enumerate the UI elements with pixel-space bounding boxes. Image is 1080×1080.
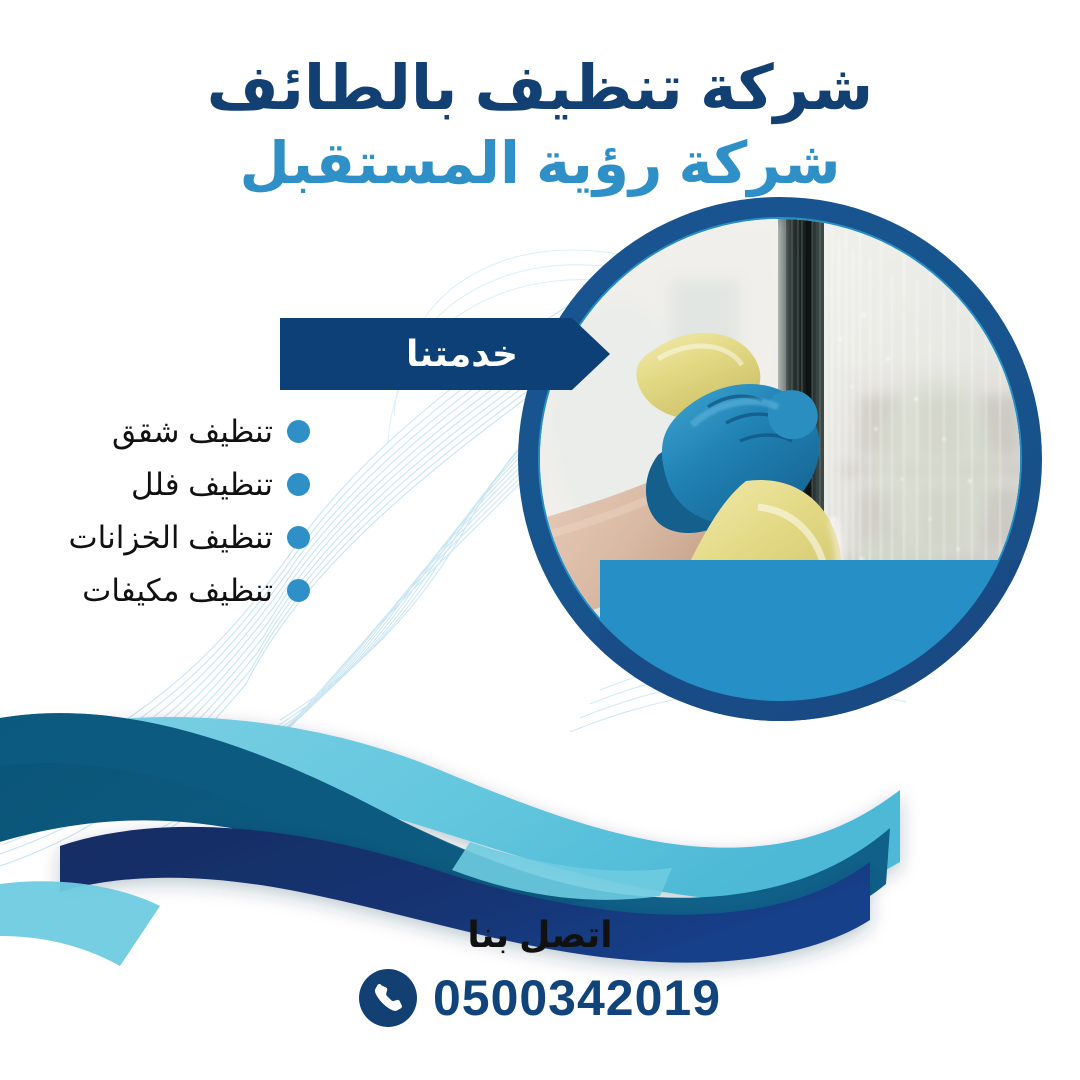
contact-block: اتصل بنا 0500342019 [0,915,1080,1027]
bullet-dot-icon [287,526,310,549]
photo-ring-outer [518,197,1042,721]
poster-canvas: شركة تنظيف بالطائف شركة رؤية المستقبل [0,0,1080,1080]
list-item[interactable]: تنظيف الخزانات [60,511,310,564]
hero-photo [540,219,1020,699]
phone-row[interactable]: 0500342019 [0,969,1080,1027]
service-label: تنظيف مكيفات [82,575,273,606]
phone-number[interactable]: 0500342019 [433,973,721,1023]
headline-block: شركة تنظيف بالطائف شركة رؤية المستقبل [40,56,1040,196]
headline-line-1: شركة تنظيف بالطائف [40,56,1040,123]
bullet-dot-icon [287,579,310,602]
contact-label: اتصل بنا [0,915,1080,955]
list-item[interactable]: تنظيف شقق [60,405,310,458]
list-item[interactable]: تنظيف مكيفات [60,564,310,617]
service-label: تنظيف شقق [112,416,273,447]
services-list: تنظيف شقق تنظيف فلل تنظيف الخزانات تنظيف… [60,405,310,617]
service-label: تنظيف الخزانات [68,522,273,553]
phone-handset-icon[interactable] [359,969,417,1027]
services-banner-label: خدمتنا [280,318,610,390]
service-label: تنظيف فلل [131,469,273,500]
services-banner: خدمتنا [280,318,610,390]
bullet-dot-icon [287,420,310,443]
bullet-dot-icon [287,473,310,496]
headline-line-2: شركة رؤية المستقبل [40,133,1040,196]
list-item[interactable]: تنظيف فلل [60,458,310,511]
